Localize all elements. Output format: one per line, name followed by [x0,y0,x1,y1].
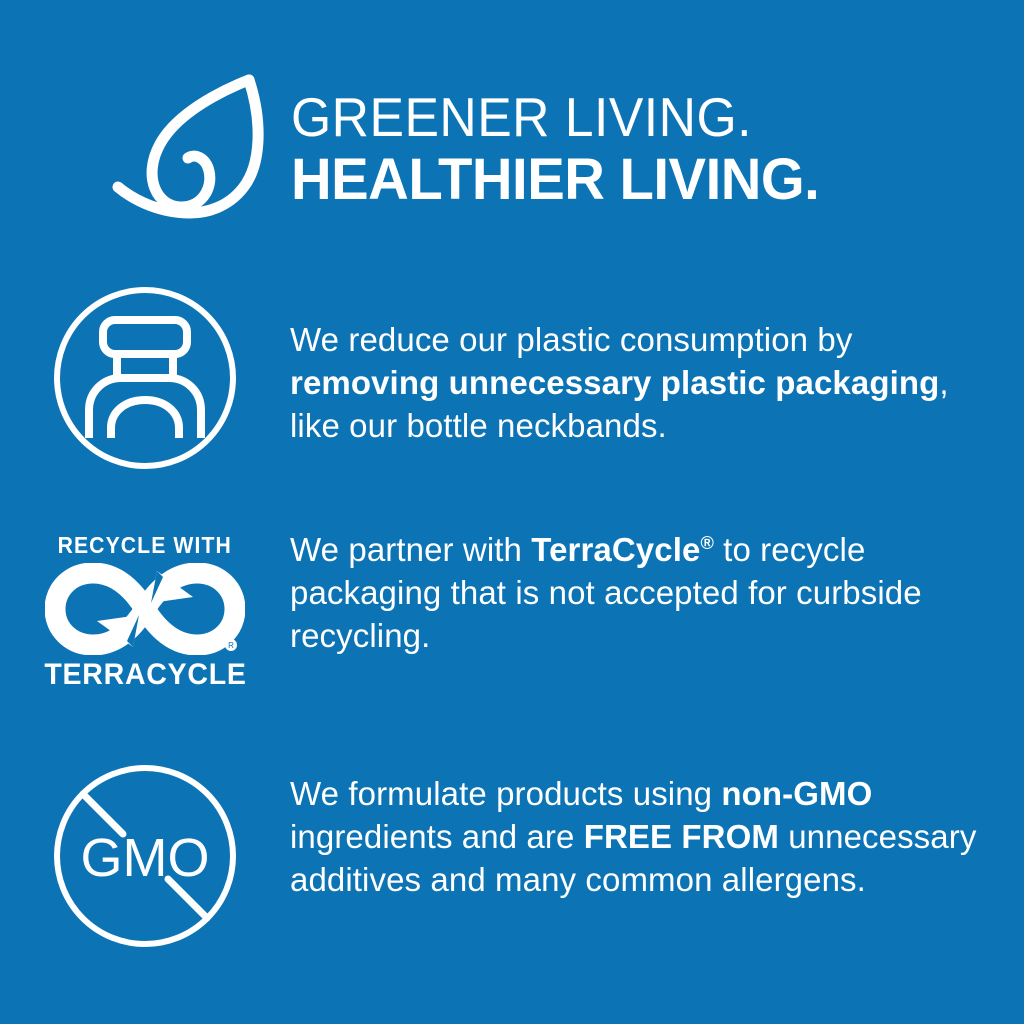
benefit-row: GMO We formulate products using non-GMO … [0,758,1024,988]
bottle-neckband-icon [49,282,241,474]
svg-text:R: R [228,641,234,650]
no-gmo-icon: GMO [49,758,241,954]
infinity-recycle-arrows-icon: R [45,563,245,655]
row-icon-slot: GMO [0,758,290,954]
row-text: We reduce our plastic consumption by rem… [290,318,984,447]
benefit-rows: We reduce our plastic consumption by rem… [0,282,1024,988]
title-line-1: GREENER LIVING. [291,87,803,147]
terracycle-logo: RECYCLE WITH R TERRACYCLE [43,532,248,692]
row-icon-slot: RECYCLE WITH R TERRACYCLE [0,530,290,692]
row-text: We partner with TerraCycle® to recycle p… [290,528,984,657]
row-icon-slot [0,282,290,474]
title-line-2: HEALTHIER LIVING. [291,147,819,213]
header-banner: GREENER LIVING. HEALTHIER LIVING. [0,60,1024,240]
infographic-page: GREENER LIVING. HEALTHIER LIVING. [0,0,1024,1024]
gmo-label: GMO [81,828,210,888]
leaf-icon [110,68,285,233]
row-text: We formulate products using non-GMO ingr… [290,772,984,901]
benefit-row: We reduce our plastic consumption by rem… [0,282,1024,530]
header-text-group: GREENER LIVING. HEALTHIER LIVING. [291,87,836,213]
row-body: We partner with TerraCycle® to recycle p… [290,528,1024,657]
benefit-row: RECYCLE WITH R TERRACYCLE [0,530,1024,758]
row-body: We reduce our plastic consumption by rem… [290,282,1024,447]
terracycle-top-label: RECYCLE WITH [58,532,232,558]
row-body: We formulate products using non-GMO ingr… [290,758,1024,901]
terracycle-bottom-label: TERRACYCLE [44,658,246,692]
